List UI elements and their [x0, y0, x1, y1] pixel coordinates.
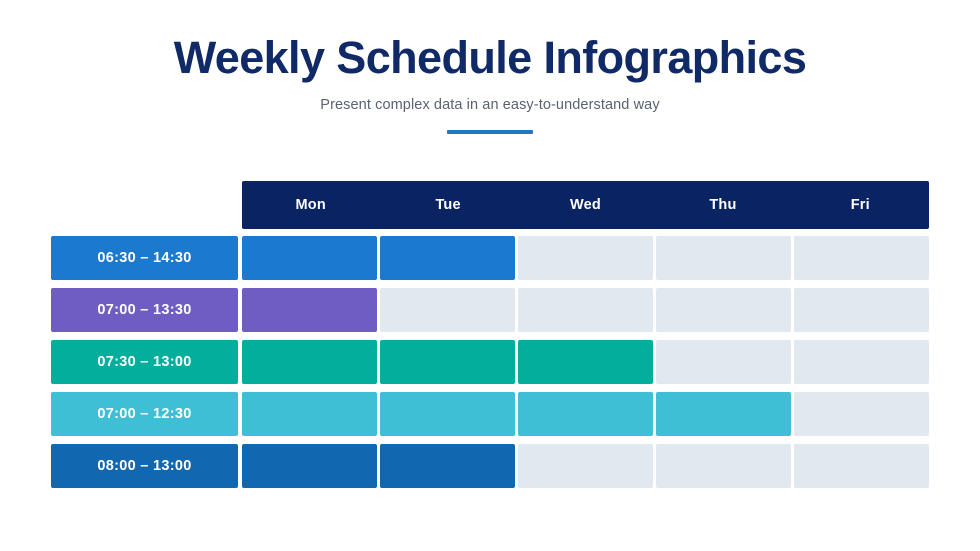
- schedule-cell-tue-active[interactable]: [380, 444, 515, 488]
- schedule-cells: [242, 444, 929, 488]
- page-subtitle: Present complex data in an easy-to-under…: [0, 97, 980, 113]
- schedule-cell-wed-active[interactable]: [518, 392, 653, 436]
- accent-divider: [447, 130, 533, 134]
- schedule-cells: [242, 340, 929, 384]
- time-range-label: 07:00 – 13:30: [51, 288, 238, 332]
- day-header-fri: Fri: [792, 197, 929, 213]
- schedule-cell-fri-empty[interactable]: [794, 392, 929, 436]
- day-header-wed: Wed: [517, 197, 654, 213]
- page-header: Weekly Schedule Infographics Present com…: [0, 0, 980, 134]
- schedule-row: 08:00 – 13:00: [51, 444, 929, 488]
- schedule-cell-tue-active[interactable]: [380, 340, 515, 384]
- schedule-cell-mon-active[interactable]: [242, 340, 377, 384]
- schedule-cells: [242, 236, 929, 280]
- schedule-cell-mon-active[interactable]: [242, 236, 377, 280]
- schedule-cell-wed-empty[interactable]: [518, 444, 653, 488]
- schedule-rows: 06:30 – 14:3007:00 – 13:3007:30 – 13:000…: [51, 236, 929, 488]
- schedule-cell-tue-empty[interactable]: [380, 288, 515, 332]
- schedule-cell-mon-active[interactable]: [242, 444, 377, 488]
- time-range-label: 07:00 – 12:30: [51, 392, 238, 436]
- schedule-cells: [242, 288, 929, 332]
- schedule-cell-fri-empty[interactable]: [794, 236, 929, 280]
- schedule-cell-thu-empty[interactable]: [656, 288, 791, 332]
- schedule-cell-fri-empty[interactable]: [794, 288, 929, 332]
- day-header-thu: Thu: [654, 197, 791, 213]
- schedule-cell-thu-empty[interactable]: [656, 340, 791, 384]
- schedule-cells: [242, 392, 929, 436]
- schedule-cell-mon-active[interactable]: [242, 392, 377, 436]
- schedule-row: 07:30 – 13:00: [51, 340, 929, 384]
- day-header-mon: Mon: [242, 197, 379, 213]
- weekly-schedule: MonTueWedThuFri 06:30 – 14:3007:00 – 13:…: [51, 181, 929, 488]
- schedule-cell-wed-empty[interactable]: [518, 288, 653, 332]
- schedule-row: 07:00 – 13:30: [51, 288, 929, 332]
- day-header-row: MonTueWedThuFri: [242, 181, 929, 229]
- schedule-cell-wed-empty[interactable]: [518, 236, 653, 280]
- schedule-cell-mon-active[interactable]: [242, 288, 377, 332]
- time-range-label: 06:30 – 14:30: [51, 236, 238, 280]
- schedule-cell-thu-empty[interactable]: [656, 236, 791, 280]
- schedule-row: 07:00 – 12:30: [51, 392, 929, 436]
- schedule-cell-tue-active[interactable]: [380, 236, 515, 280]
- day-header-tue: Tue: [379, 197, 516, 213]
- schedule-cell-tue-active[interactable]: [380, 392, 515, 436]
- schedule-cell-thu-empty[interactable]: [656, 444, 791, 488]
- time-range-label: 08:00 – 13:00: [51, 444, 238, 488]
- schedule-row: 06:30 – 14:30: [51, 236, 929, 280]
- schedule-cell-wed-active[interactable]: [518, 340, 653, 384]
- page-title: Weekly Schedule Infographics: [0, 34, 980, 83]
- time-range-label: 07:30 – 13:00: [51, 340, 238, 384]
- schedule-cell-fri-empty[interactable]: [794, 444, 929, 488]
- schedule-cell-thu-active[interactable]: [656, 392, 791, 436]
- schedule-cell-fri-empty[interactable]: [794, 340, 929, 384]
